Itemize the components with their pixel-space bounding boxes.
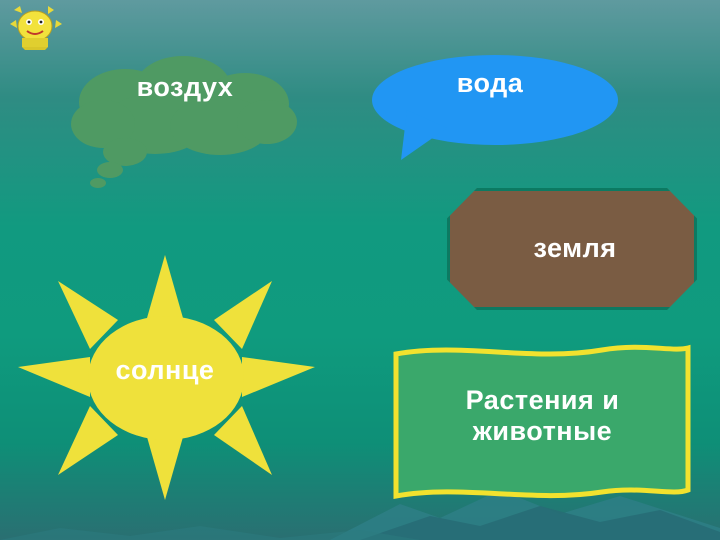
slide-canvas: воздух вода земля солнце Растения и живо… bbox=[0, 0, 720, 540]
speech-bubble-water bbox=[355, 48, 620, 168]
octagon-label-earth: земля bbox=[450, 233, 700, 264]
cloud-label-air: воздух bbox=[60, 72, 310, 103]
bubble-label-water: вода bbox=[390, 68, 590, 99]
sun-character-emblem bbox=[8, 4, 64, 50]
sun-label: солнце bbox=[75, 355, 255, 386]
banner-label-plants-animals: Растения и животные bbox=[395, 385, 690, 447]
